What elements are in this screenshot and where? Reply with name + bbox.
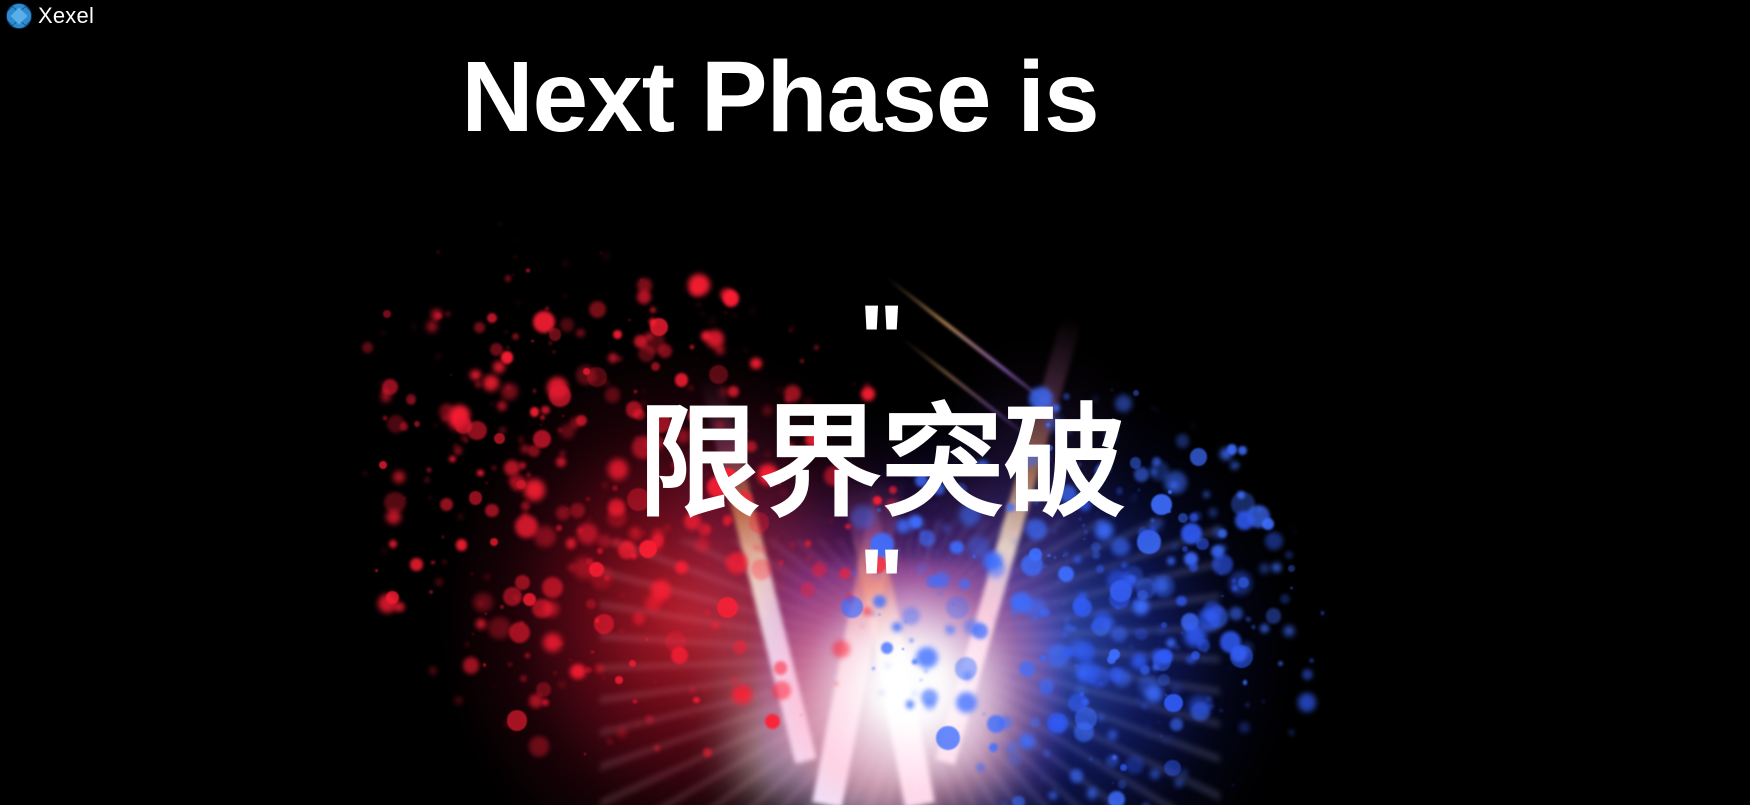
headline-japanese-text: 限界突破 bbox=[638, 395, 1126, 531]
headline-line-1: Next Phase is bbox=[0, 46, 1750, 148]
headline-line-2: " 限界突破 " bbox=[0, 158, 1750, 768]
hero-heading: Next Phase is " 限界突破 " bbox=[0, 0, 1750, 768]
quote-open-mark: " bbox=[859, 285, 905, 392]
brand-name: Xexel bbox=[38, 5, 94, 27]
diamond-lattice-logo-icon bbox=[6, 3, 32, 29]
hero-page: Xexel Next Phase is " 限界突破 " bbox=[0, 0, 1750, 805]
brand-logo[interactable]: Xexel bbox=[6, 3, 94, 29]
quote-close-mark: " bbox=[859, 529, 905, 636]
